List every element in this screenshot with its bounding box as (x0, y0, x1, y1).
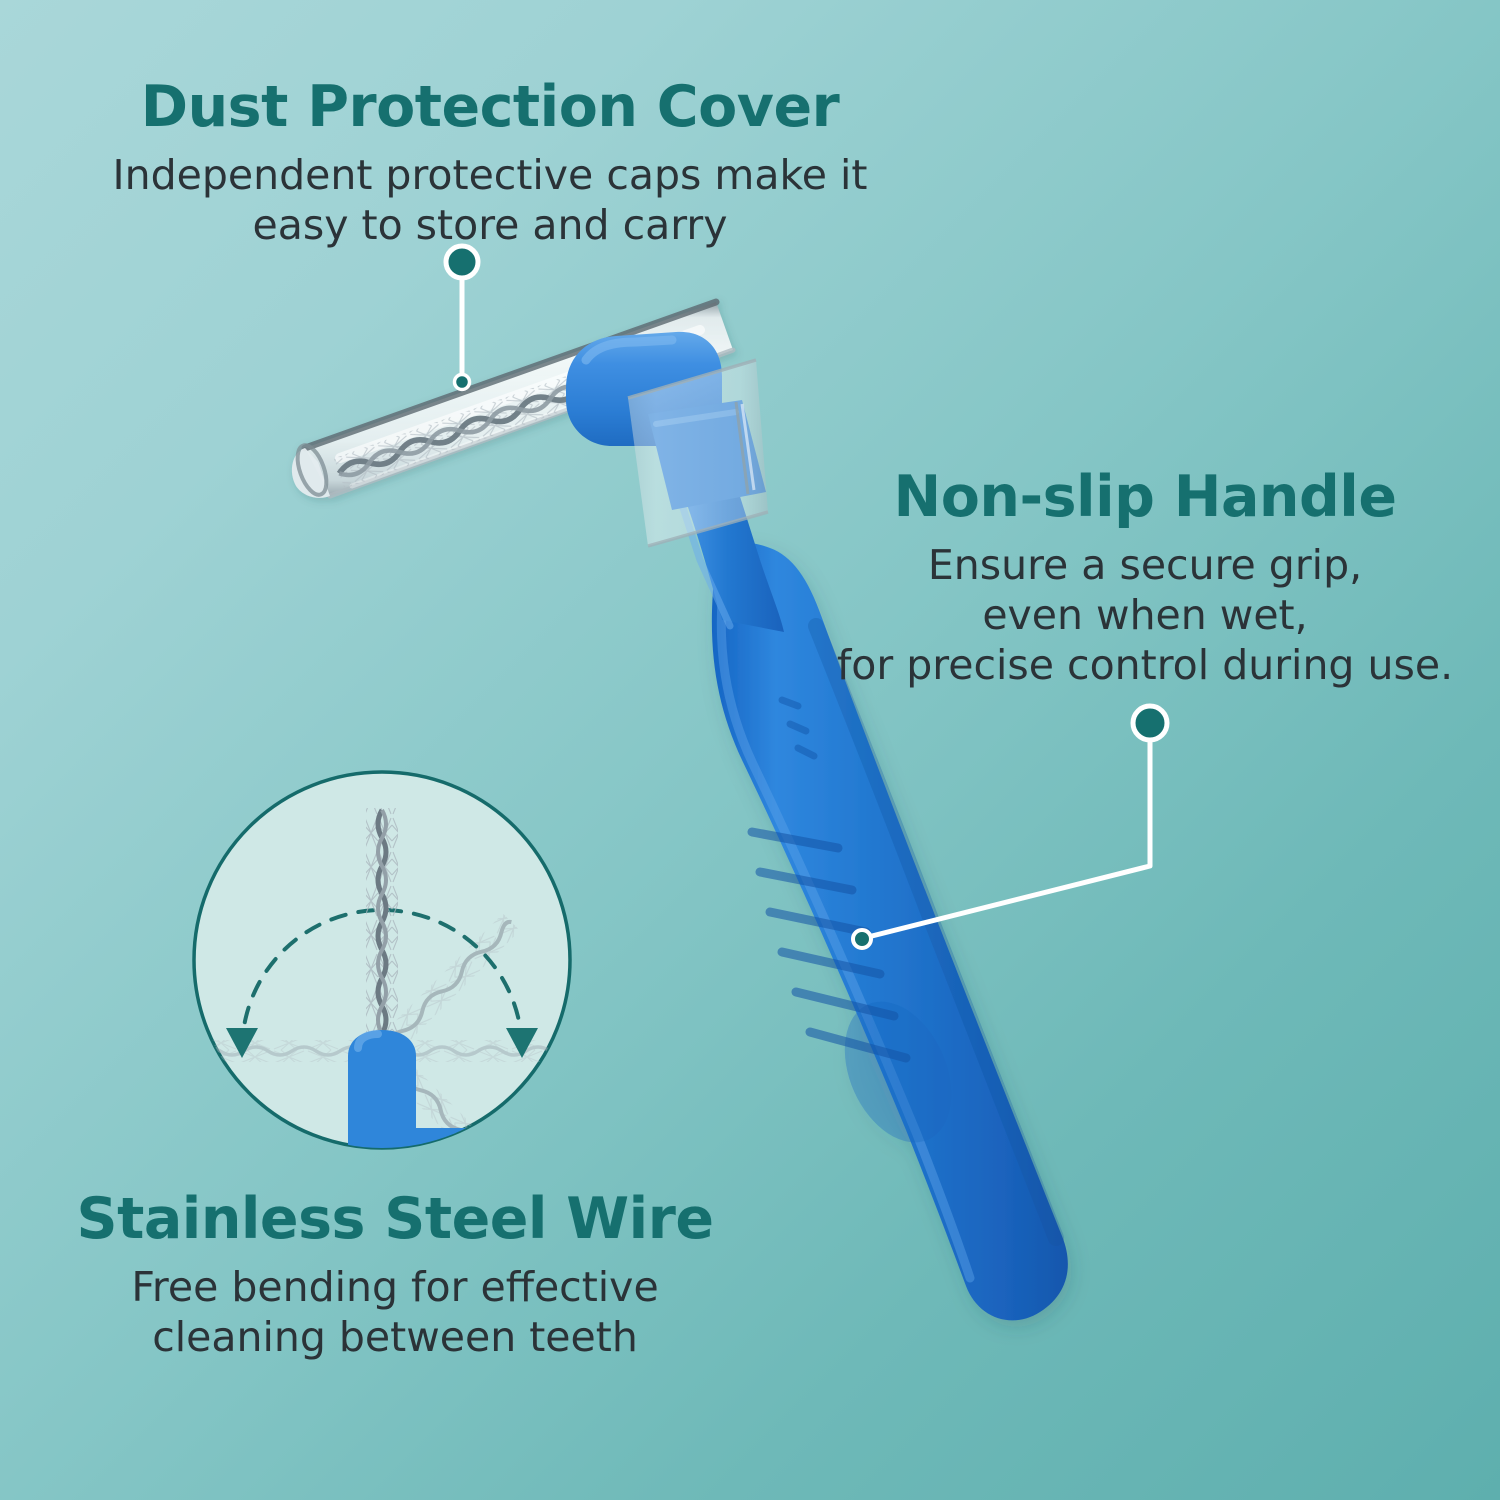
feature-title-non-slip-handle: Non-slip Handle (790, 468, 1500, 528)
description-line: Free bending for effective (30, 1262, 760, 1312)
bristle-upright (366, 808, 398, 1054)
description-line: cleaning between teeth (30, 1312, 760, 1362)
description-line: even when wet, (790, 590, 1500, 640)
bending-range-inset (194, 772, 572, 1190)
feature-stainless-steel-wire: Stainless Steel Wire Free bending for ef… (30, 1190, 760, 1362)
feature-description-dust-cover: Independent protective caps make it easy… (40, 150, 940, 250)
description-line: Ensure a secure grip, (790, 540, 1500, 590)
feature-description-stainless-steel-wire: Free bending for effective cleaning betw… (30, 1262, 760, 1362)
feature-title-dust-cover: Dust Protection Cover (40, 78, 940, 138)
description-line: Independent protective caps make it (40, 150, 940, 200)
description-line: easy to store and carry (40, 200, 940, 250)
feature-non-slip-handle: Non-slip Handle Ensure a secure grip, ev… (790, 468, 1500, 690)
feature-dust-protection-cover: Dust Protection Cover Independent protec… (40, 78, 940, 250)
feature-description-non-slip-handle: Ensure a secure grip, even when wet, for… (790, 540, 1500, 690)
description-line: for precise control during use. (790, 640, 1500, 690)
feature-title-stainless-steel-wire: Stainless Steel Wire (30, 1190, 760, 1250)
product-feature-infographic: Dust Protection Cover Independent protec… (0, 0, 1500, 1500)
